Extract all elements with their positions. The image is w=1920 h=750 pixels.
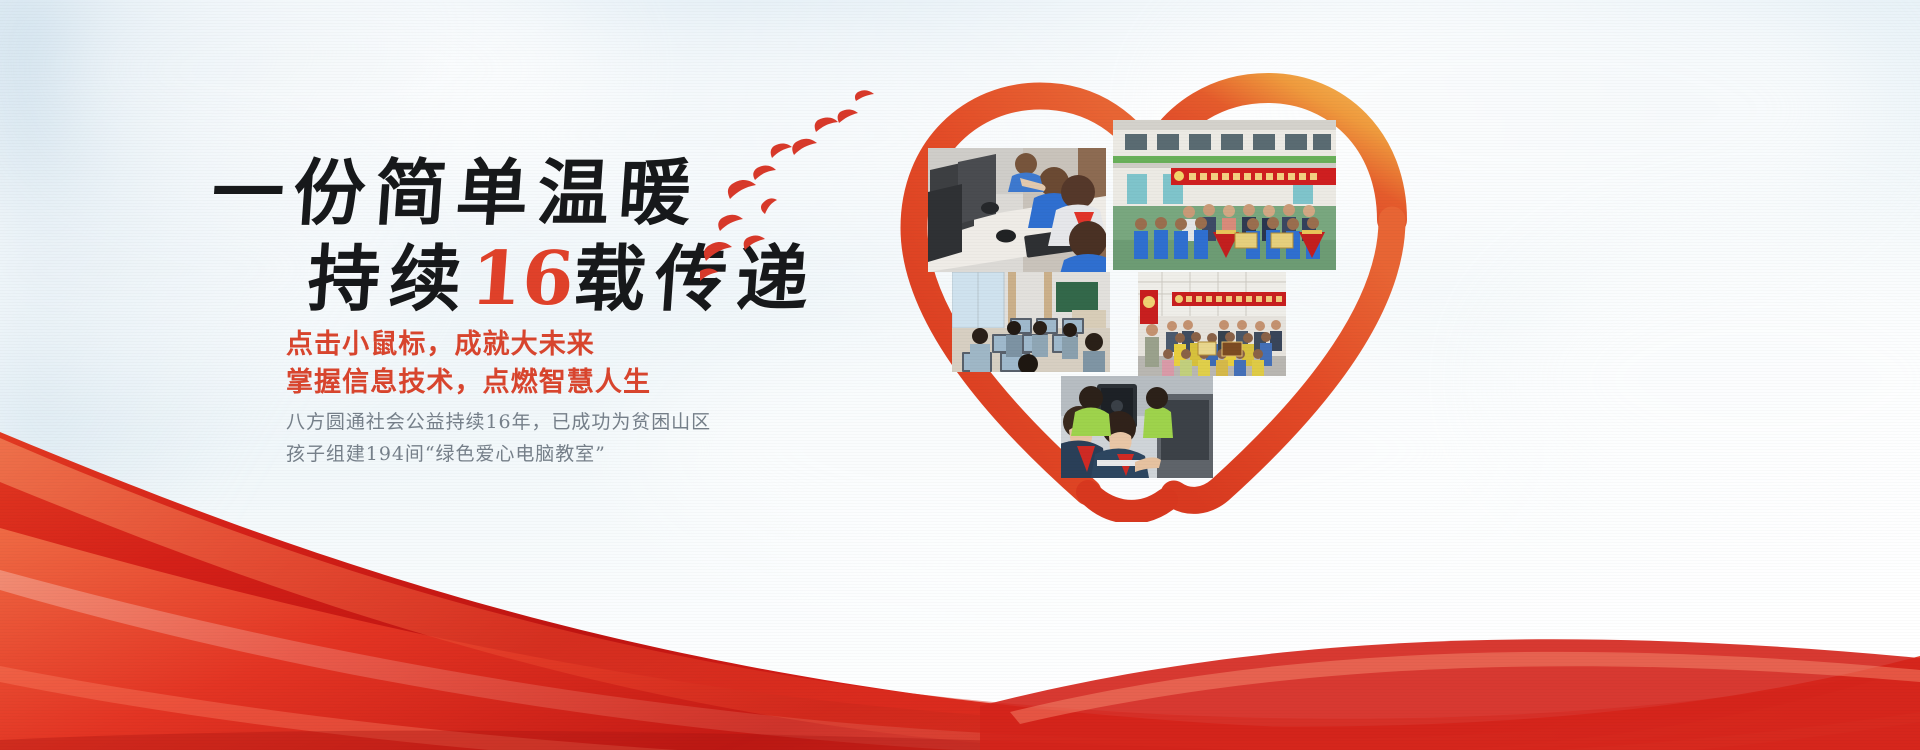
subtitle-line-2: 掌握信息技术，点燃智慧人生	[286, 364, 806, 402]
headline-years-number: 16	[468, 236, 577, 322]
photo-classroom-wide-image	[952, 272, 1110, 372]
subtitle: 点击小鼠标，成就大未来 掌握信息技术，点燃智慧人生	[286, 326, 806, 402]
photo-classroom-wide	[952, 272, 1110, 372]
headline: 一份简单温暖 持续16载传递	[212, 150, 772, 322]
headline-line-1: 一份简单温暖	[209, 150, 775, 236]
photo-computer-lab-students-image	[928, 148, 1106, 272]
ribbon-icon	[0, 420, 1920, 750]
red-silk-ribbon-wave	[0, 420, 1920, 750]
headline-line-2-prefix: 持续	[305, 236, 474, 321]
photo-donation-ceremony-group-image	[1113, 120, 1336, 270]
photo-computer-lab-students	[928, 148, 1106, 272]
photo-school-group-photo	[1138, 272, 1286, 376]
photo-school-group-photo-image	[1138, 272, 1286, 376]
charity-banner: 一份简单温暖 持续16载传递 点击小鼠标，成就大未来 掌握信息技术，点燃智慧人生…	[0, 0, 1920, 750]
photo-donation-ceremony-group	[1113, 120, 1336, 270]
subtitle-line-1: 点击小鼠标，成就大未来	[286, 326, 806, 364]
